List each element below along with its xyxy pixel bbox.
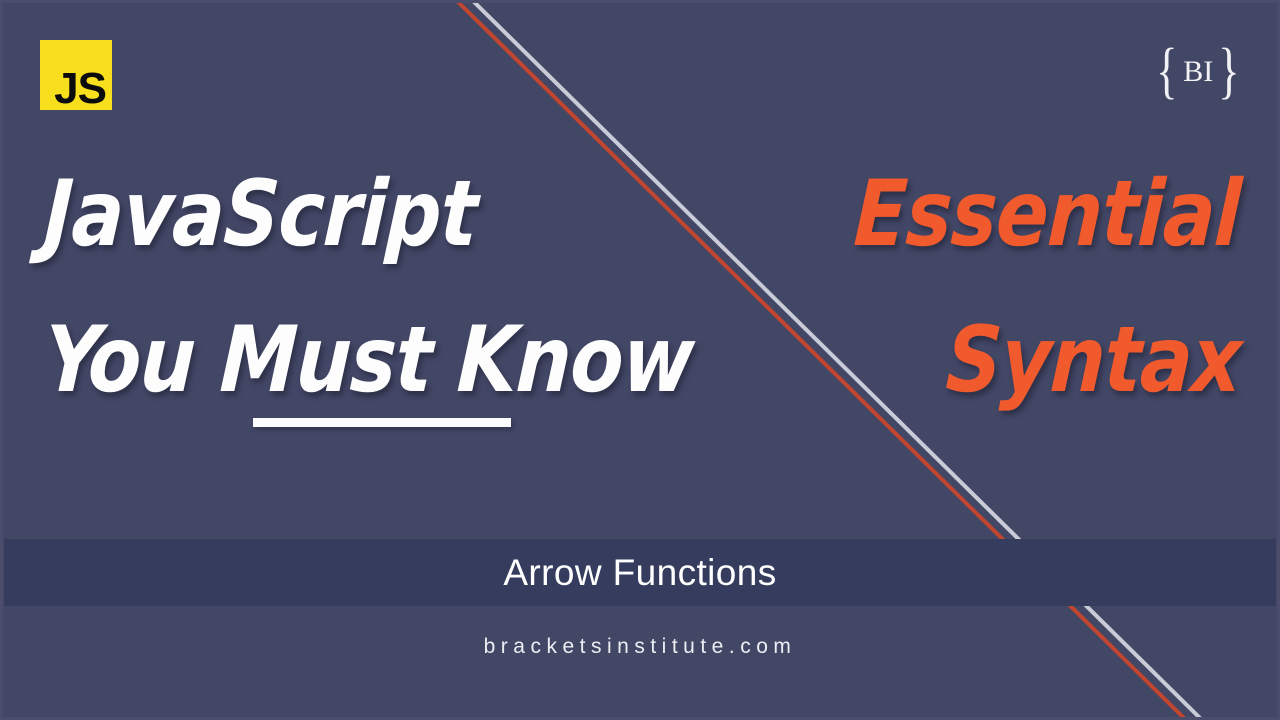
javascript-logo-label: JS xyxy=(54,67,106,111)
headline-javascript: JavaScript xyxy=(42,169,479,260)
slide-canvas: JS { BI } JavaScript Essential You Must … xyxy=(0,0,1280,720)
headline-row-second: You Must Know Syntax xyxy=(0,318,1280,458)
topic-label: Arrow Functions xyxy=(503,554,776,591)
right-brace-icon: } xyxy=(1218,40,1239,102)
brand-initials: BI xyxy=(1182,57,1214,87)
headline-you-must-know: You Must Know xyxy=(42,315,696,406)
headline-row-first: JavaScript Essential xyxy=(0,168,1280,308)
javascript-logo-icon: JS xyxy=(40,40,112,110)
headline-syntax: Syntax xyxy=(944,315,1243,406)
headline-block: JavaScript Essential You Must Know Synta… xyxy=(0,168,1280,448)
headline-essential: Essential xyxy=(852,169,1243,260)
brand-logo: { BI } xyxy=(1152,38,1244,104)
topic-banner: Arrow Functions xyxy=(4,539,1276,606)
left-brace-icon: { xyxy=(1157,40,1178,102)
site-url: bracketsinstitute.com xyxy=(0,636,1280,658)
site-url-label: bracketsinstitute.com xyxy=(484,635,797,658)
must-underline-bar xyxy=(253,418,511,427)
